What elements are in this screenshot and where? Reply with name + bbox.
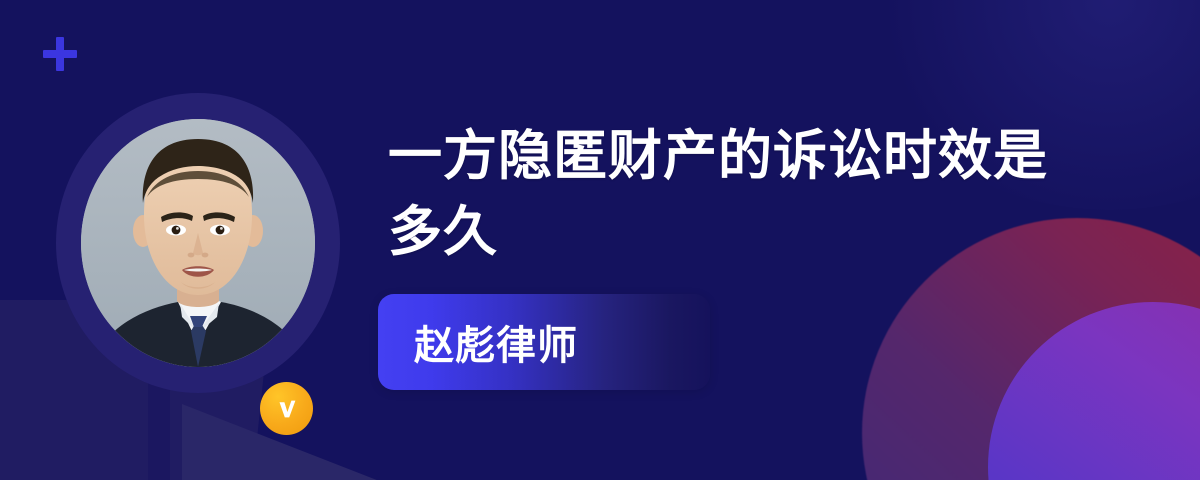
avatar	[56, 93, 340, 393]
violet-blob	[988, 302, 1200, 480]
page-title: 一方隐匿财产的诉讼时效是多久	[388, 118, 1088, 270]
author-button[interactable]: 赵彪律师	[378, 294, 710, 390]
verified-badge	[260, 382, 313, 435]
avatar-photo	[81, 119, 315, 367]
plus-icon	[43, 37, 77, 71]
lawyer-question-banner: 一方隐匿财产的诉讼时效是多久 赵彪律师	[0, 0, 1200, 480]
headline-block: 一方隐匿财产的诉讼时效是多久	[388, 118, 1088, 270]
